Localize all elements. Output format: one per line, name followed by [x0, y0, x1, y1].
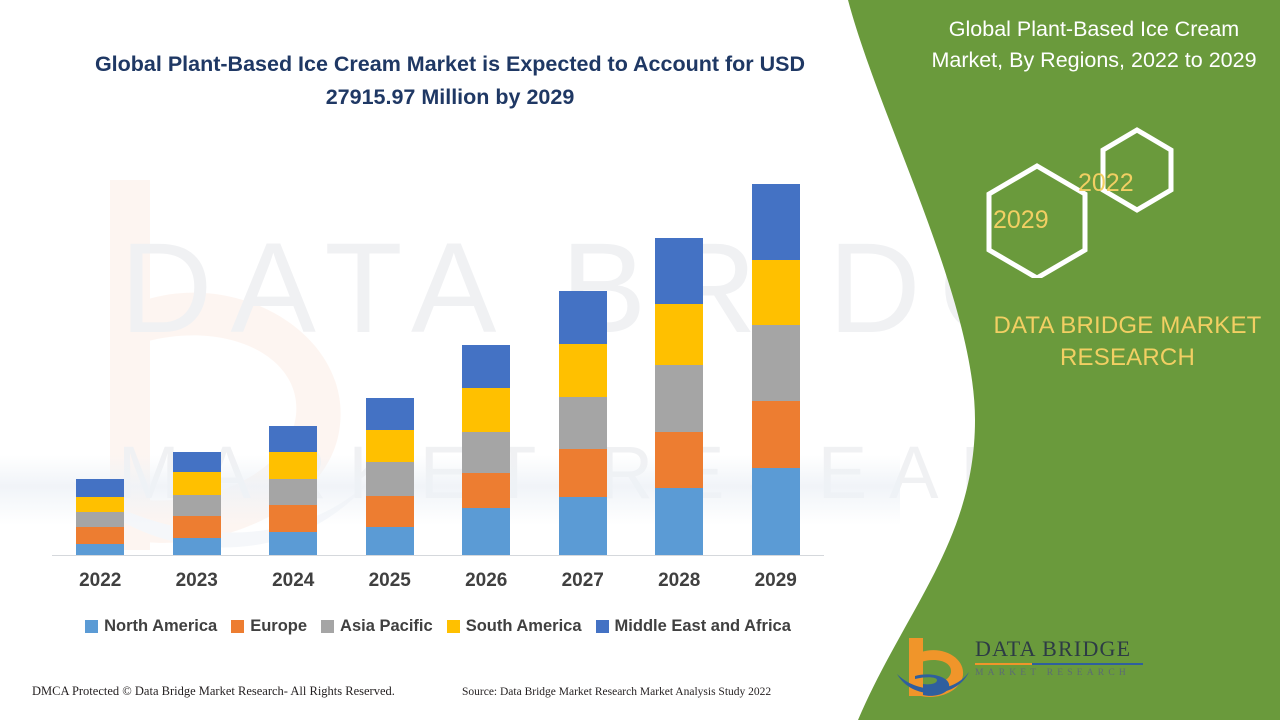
bar-group: [631, 150, 728, 555]
bar-segment: [559, 344, 607, 397]
x-axis-line: [52, 555, 824, 556]
logo-name: DATA BRIDGE: [975, 638, 1150, 660]
bar-segment: [173, 495, 221, 516]
bar-segment: [173, 452, 221, 472]
legend-label: North America: [104, 617, 217, 636]
bar-segment: [752, 260, 800, 325]
x-axis-labels: 20222023202420252026202720282029: [52, 570, 824, 592]
bar-segment: [655, 488, 703, 555]
stacked-bar[interactable]: [559, 291, 607, 555]
bar-segment: [655, 365, 703, 432]
bar-segment: [76, 544, 124, 555]
bar-segment: [76, 527, 124, 544]
bar-segment: [462, 388, 510, 432]
bar-segment: [752, 184, 800, 260]
legend-item[interactable]: North America: [85, 617, 217, 636]
logo-b-icon: [895, 632, 973, 702]
hexagon-years-group: 2029 2022: [965, 118, 1195, 278]
stacked-bar[interactable]: [173, 452, 221, 555]
x-axis-tick-label: 2022: [52, 570, 149, 592]
hex-label-2022: 2022: [1078, 169, 1134, 198]
logo-subtitle: MARKET RESEARCH: [975, 668, 1150, 678]
bar-group: [535, 150, 632, 555]
bar-segment: [752, 325, 800, 401]
bar-segment: [752, 468, 800, 555]
bar-segment: [366, 527, 414, 555]
bar-segment: [462, 508, 510, 555]
legend-item[interactable]: Europe: [231, 617, 307, 636]
legend-item[interactable]: South America: [447, 617, 582, 636]
bar-segment: [366, 462, 414, 496]
legend-label: South America: [466, 617, 582, 636]
footer-source: Source: Data Bridge Market Research Mark…: [462, 686, 771, 698]
stacked-bar[interactable]: [752, 184, 800, 555]
bar-segment: [462, 432, 510, 473]
infographic-root: DATA BRIDGE MARKET RESEARCH Global Plant…: [0, 0, 1280, 720]
bar-segment: [366, 398, 414, 430]
legend-label: Middle East and Africa: [615, 617, 791, 636]
x-axis-tick-label: 2027: [535, 570, 632, 592]
bar-segment: [173, 538, 221, 555]
bar-segment: [173, 472, 221, 495]
stacked-bar[interactable]: [655, 238, 703, 555]
bar-group: [149, 150, 246, 555]
bar-segment: [269, 505, 317, 532]
bar-group: [438, 150, 535, 555]
bar-group: [342, 150, 439, 555]
bar-segment: [752, 401, 800, 468]
legend-label: Europe: [250, 617, 307, 636]
chart-legend: North AmericaEuropeAsia PacificSouth Ame…: [52, 617, 824, 636]
bar-segment: [559, 291, 607, 344]
bar-segment: [269, 532, 317, 555]
bar-segment: [655, 304, 703, 365]
legend-swatch-icon: [231, 620, 244, 633]
x-axis-tick-label: 2023: [149, 570, 246, 592]
stacked-bar[interactable]: [269, 426, 317, 555]
bar-segment: [559, 397, 607, 449]
legend-swatch-icon: [85, 620, 98, 633]
legend-label: Asia Pacific: [340, 617, 433, 636]
chart-bars: [52, 150, 824, 555]
legend-swatch-icon: [447, 620, 460, 633]
bar-segment: [559, 497, 607, 555]
brand-name: DATA BRIDGE MARKET RESEARCH: [940, 310, 1280, 375]
stacked-bar[interactable]: [76, 479, 124, 555]
bar-segment: [366, 430, 414, 462]
hex-label-2029: 2029: [993, 206, 1049, 235]
legend-item[interactable]: Asia Pacific: [321, 617, 433, 636]
x-axis-tick-label: 2029: [728, 570, 825, 592]
bar-group: [728, 150, 825, 555]
bar-segment: [76, 479, 124, 497]
bar-segment: [655, 432, 703, 488]
x-axis-tick-label: 2025: [342, 570, 439, 592]
logo-text-block: DATA BRIDGE MARKET RESEARCH: [975, 638, 1150, 678]
bar-segment: [269, 479, 317, 505]
page-title: Global Plant-Based Ice Cream Market is E…: [60, 48, 840, 113]
bar-segment: [366, 496, 414, 527]
stacked-bar[interactable]: [366, 398, 414, 555]
footer-copyright: DMCA Protected © Data Bridge Market Rese…: [32, 684, 395, 699]
bar-segment: [269, 426, 317, 452]
bar-segment: [76, 497, 124, 512]
bar-segment: [173, 516, 221, 538]
bar-group: [52, 150, 149, 555]
legend-item[interactable]: Middle East and Africa: [596, 617, 791, 636]
bar-segment: [655, 238, 703, 304]
bar-segment: [76, 512, 124, 527]
x-axis-tick-label: 2026: [438, 570, 535, 592]
stacked-bar-chart: [52, 150, 824, 556]
legend-swatch-icon: [596, 620, 609, 633]
legend-swatch-icon: [321, 620, 334, 633]
bar-segment: [559, 449, 607, 497]
stacked-bar[interactable]: [462, 345, 510, 555]
x-axis-tick-label: 2028: [631, 570, 728, 592]
bar-segment: [462, 345, 510, 388]
company-logo: DATA BRIDGE MARKET RESEARCH: [895, 632, 1155, 704]
bar-segment: [269, 452, 317, 479]
x-axis-tick-label: 2024: [245, 570, 342, 592]
panel-title: Global Plant-Based Ice Cream Market, By …: [920, 14, 1268, 76]
logo-divider: [975, 663, 1143, 665]
hexagon-outline-icon: [965, 118, 1195, 278]
bar-group: [245, 150, 342, 555]
bar-segment: [462, 473, 510, 508]
